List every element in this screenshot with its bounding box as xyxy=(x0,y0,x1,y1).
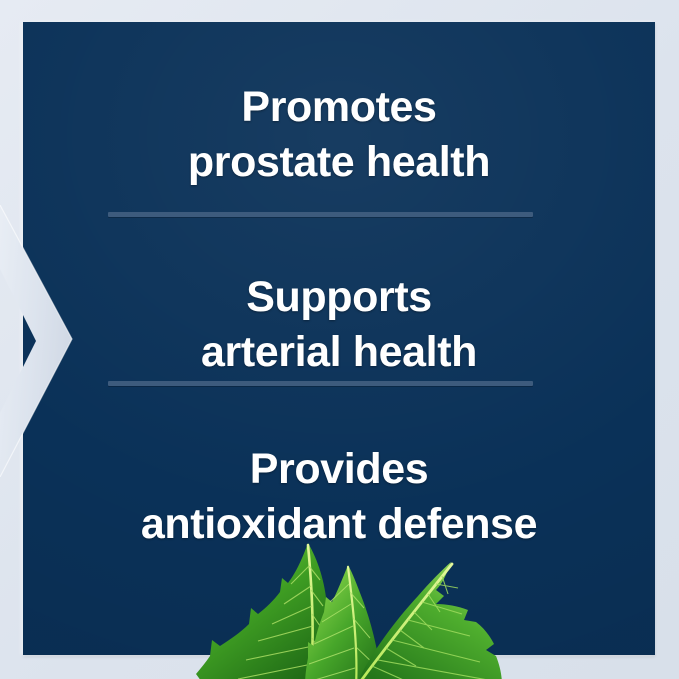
benefit-item-antioxidant: Provides antioxidant defense xyxy=(23,442,655,552)
benefit-divider-1 xyxy=(108,212,533,217)
benefit-divider-2 xyxy=(108,381,533,386)
benefit-1-line-1: Promotes xyxy=(23,80,655,135)
supplement-benefits-callout: Promotes prostate health Supports arteri… xyxy=(0,0,679,679)
benefit-1-line-2: prostate health xyxy=(23,135,655,190)
leaf-right xyxy=(356,562,502,679)
benefit-item-arterial: Supports arterial health xyxy=(23,270,655,380)
green-leaf-cluster-icon xyxy=(196,540,526,679)
benefit-item-prostate: Promotes prostate health xyxy=(23,80,655,190)
benefit-2-line-1: Supports xyxy=(23,270,655,325)
benefit-2-line-2: arterial health xyxy=(23,325,655,380)
benefit-3-line-1: Provides xyxy=(23,442,655,497)
chevron-right-icon xyxy=(0,205,74,477)
